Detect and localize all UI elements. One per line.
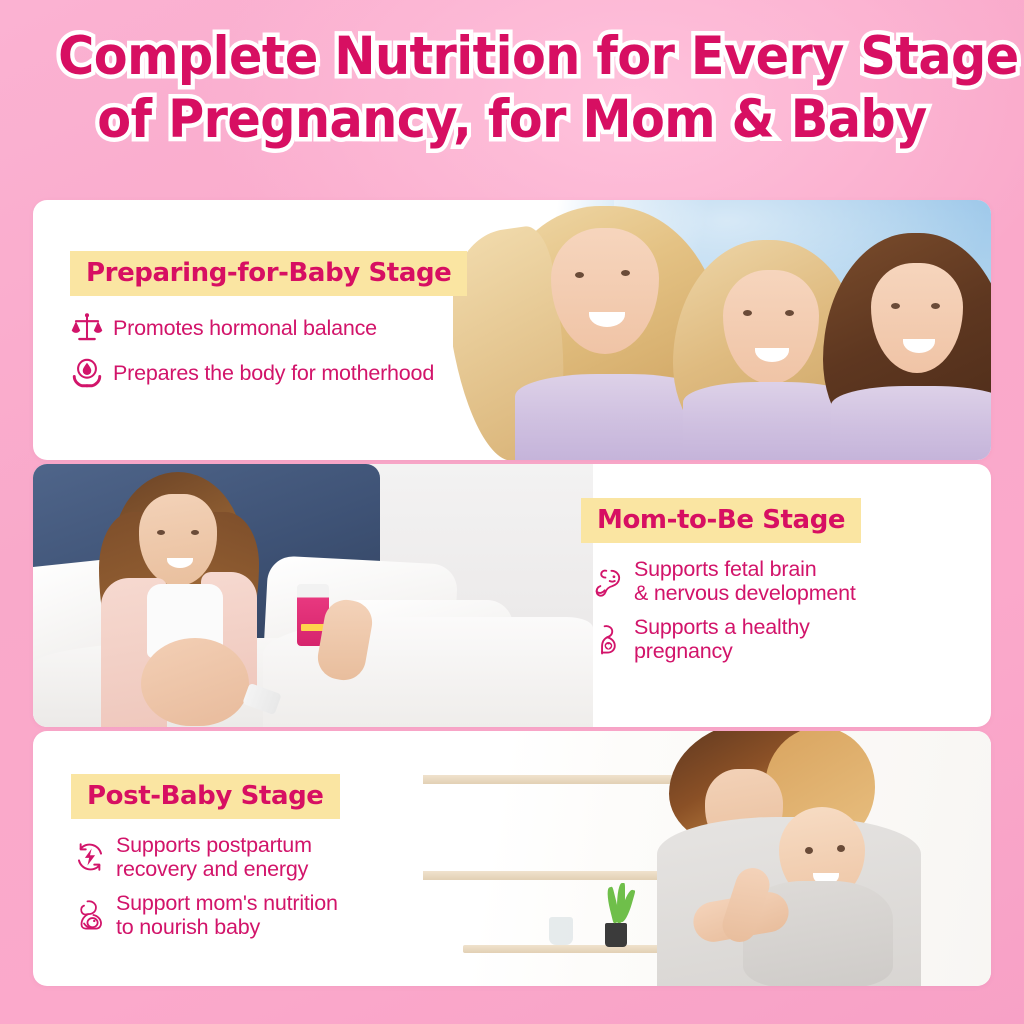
pregnant-woman-in-bed-photo [33,464,593,727]
benefit-text: Promotes hormonal balance [113,316,377,340]
breastfeeding-mother-icon [73,897,107,933]
stage-card-mom-to-be: Mom-to-Be Stage [33,464,991,727]
stage-title-post-baby: Post-Baby Stage [71,774,340,819]
stage-card-1-content: Preparing-for-Baby Stage [33,200,553,460]
benefit-text: Supports fetal brain & nervous developme… [634,557,856,606]
mother-holding-baby-photo [423,731,991,986]
page-title-line-1: Complete Nutrition for Every Stage [58,26,966,89]
benefit-text: Supports postpartum recovery and energy [116,833,312,882]
benefit-list-2: Supports fetal brain & nervous developme… [591,557,991,663]
page-title-line-2: of Pregnancy, for Mom & Baby [58,89,966,152]
stage-card-preparing-for-baby: Preparing-for-Baby Stage [33,200,991,460]
fetus-icon [591,563,625,599]
benefit-item: Supports a healthy pregnancy [591,615,991,664]
pregnancy-nutrition-infographic: Complete Nutrition for Every Stage of Pr… [0,0,1024,1024]
benefit-item: Supports postpartum recovery and energy [73,833,503,882]
hands-holding-drop-icon [70,355,104,391]
pregnant-woman-icon [591,621,625,657]
benefit-item: Supports fetal brain & nervous developme… [591,557,991,606]
benefit-item: Promotes hormonal balance [70,310,553,346]
benefit-list-3: Supports postpartum recovery and energy [73,833,503,939]
benefit-list-1: Promotes hormonal balance Prepares the b… [70,310,553,391]
benefit-text: Supports a healthy pregnancy [634,615,810,664]
stage-title-preparing-for-baby: Preparing-for-Baby Stage [70,251,467,296]
page-title: Complete Nutrition for Every Stage of Pr… [0,26,1024,151]
stage-card-post-baby: Post-Baby Stage Supports p [33,731,991,986]
balance-scales-icon [70,310,104,346]
stage-title-mom-to-be: Mom-to-Be Stage [581,498,861,543]
benefit-item: Prepares the body for motherhood [70,355,553,391]
stage-card-3-content: Post-Baby Stage Supports p [33,731,503,986]
benefit-text: Support mom's nutrition to nourish baby [116,891,338,940]
energy-recovery-icon [73,839,107,875]
benefit-item: Support mom's nutrition to nourish baby [73,891,503,940]
stage-card-2-content: Mom-to-Be Stage [533,464,991,727]
benefit-text: Prepares the body for motherhood [113,361,434,385]
